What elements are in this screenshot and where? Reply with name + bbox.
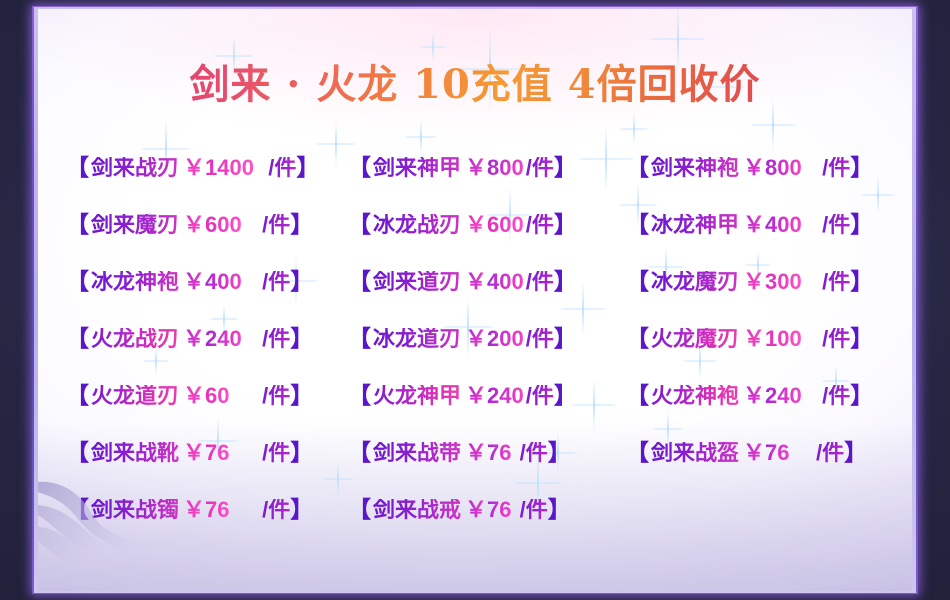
price-row: 【剑来魔刃￥600 /件】【冰龙战刃￥600/件】【冰龙神甲￥400 /件】 [38,196,912,253]
item-name: 火龙战刃 [91,328,179,350]
price-spacer [790,442,814,464]
unit-label: /件 [822,328,850,350]
item-name: 剑来战带 [373,442,461,464]
price-item[interactable]: 【火龙神甲￥240/件】 [348,384,626,407]
price-item[interactable]: 【剑来战盔￥76 /件】 [626,441,906,464]
promo-poster: 剑来 · 火龙 10充值 4倍回收价 【剑来战刃￥1400 /件】【剑来神甲￥8… [0,0,950,600]
unit-label: /件 [526,214,554,236]
item-name: 剑来神甲 [373,157,461,179]
currency-symbol: ￥ [183,157,205,179]
price-item[interactable]: 【剑来战带￥76 /件】 [348,441,626,464]
price-spacer [242,214,260,236]
item-price: 60 [205,385,229,407]
item-price: 76 [487,499,511,521]
currency-symbol: ￥ [183,499,205,521]
price-spacer [802,214,820,236]
item-price: 76 [205,499,229,521]
bracket-open: 【 [66,441,89,464]
unit-label: /件 [526,385,554,407]
item-name: 火龙神甲 [373,385,461,407]
price-item[interactable]: 【火龙道刃￥60 /件】 [66,384,348,407]
item-price: 800 [487,157,524,179]
item-name: 剑来魔刃 [91,214,179,236]
price-item[interactable]: 【剑来道刃￥400/件】 [348,270,626,293]
price-row: 【剑来战靴￥76 /件】【剑来战带￥76 /件】【剑来战盔￥76 /件】 [38,424,912,481]
price-spacer [512,442,518,464]
price-row: 【剑来战镯￥76 /件】【剑来战戒￥76 /件】 [38,481,912,538]
bracket-open: 【 [626,441,649,464]
price-item[interactable]: 【冰龙神甲￥400 /件】 [626,213,906,236]
item-price: 100 [765,328,802,350]
item-name: 剑来战刃 [91,157,179,179]
currency-symbol: ￥ [743,157,765,179]
unit-label: /件 [526,157,554,179]
item-price: 400 [205,271,242,293]
bracket-open: 【 [626,384,649,407]
item-name: 剑来战戒 [373,499,461,521]
item-name: 火龙神袍 [651,385,739,407]
bracket-close: 】 [554,384,577,407]
price-spacer [242,328,260,350]
item-name: 冰龙魔刃 [651,271,739,293]
unit-label: /件 [526,328,554,350]
bracket-close: 】 [548,498,571,521]
item-price: 1400 [205,157,254,179]
price-item[interactable]: 【剑来战刃￥1400 /件】 [66,156,348,179]
bracket-open: 【 [626,156,649,179]
price-item[interactable]: 【冰龙道刃￥200/件】 [348,327,626,350]
item-name: 剑来战镯 [91,499,179,521]
bracket-open: 【 [348,327,371,350]
unit-label: /件 [816,442,844,464]
item-name: 冰龙道刃 [373,328,461,350]
bracket-close: 】 [290,270,313,293]
currency-symbol: ￥ [465,499,487,521]
unit-label: /件 [526,271,554,293]
bracket-close: 】 [850,327,873,350]
bracket-open: 【 [348,270,371,293]
price-spacer [802,328,820,350]
bracket-close: 】 [554,270,577,293]
price-spacer [802,271,820,293]
bracket-open: 【 [66,213,89,236]
bracket-open: 【 [348,213,371,236]
unit-label: /件 [268,157,296,179]
price-item[interactable]: 【剑来战戒￥76 /件】 [348,498,626,521]
price-spacer [802,157,820,179]
unit-label: /件 [520,499,548,521]
price-item[interactable]: 【火龙战刃￥240 /件】 [66,327,348,350]
price-list: 【剑来战刃￥1400 /件】【剑来神甲￥800/件】【剑来神袍￥800 /件】【… [38,139,912,538]
bracket-open: 【 [626,213,649,236]
item-name: 剑来战靴 [91,442,179,464]
price-row: 【剑来战刃￥1400 /件】【剑来神甲￥800/件】【剑来神袍￥800 /件】 [38,139,912,196]
unit-label: /件 [822,385,850,407]
currency-symbol: ￥ [465,214,487,236]
bracket-close: 】 [850,213,873,236]
title-area: 剑来 · 火龙 10充值 4倍回收价 [38,63,912,107]
unit-label: /件 [262,442,290,464]
item-name: 冰龙神甲 [651,214,739,236]
item-name: 剑来战盔 [651,442,739,464]
bracket-close: 】 [296,156,319,179]
item-price: 800 [765,157,802,179]
price-spacer [254,157,266,179]
bracket-close: 】 [290,384,313,407]
item-price: 240 [487,385,524,407]
currency-symbol: ￥ [465,157,487,179]
item-price: 240 [205,328,242,350]
currency-symbol: ￥ [465,271,487,293]
price-row: 【冰龙神袍￥400 /件】【剑来道刃￥400/件】【冰龙魔刃￥300 /件】 [38,253,912,310]
unit-label: /件 [262,214,290,236]
bracket-open: 【 [66,270,89,293]
item-price: 600 [205,214,242,236]
currency-symbol: ￥ [183,214,205,236]
price-item[interactable]: 【剑来神甲￥800/件】 [348,156,626,179]
bracket-close: 】 [290,441,313,464]
currency-symbol: ￥ [743,385,765,407]
item-name: 剑来神袍 [651,157,739,179]
bracket-open: 【 [626,270,649,293]
price-spacer [230,385,261,407]
currency-symbol: ￥ [183,442,205,464]
bracket-open: 【 [626,327,649,350]
price-item[interactable]: 【火龙魔刃￥100 /件】 [626,327,906,350]
bracket-close: 】 [554,213,577,236]
currency-symbol: ￥ [183,271,205,293]
item-price: 600 [487,214,524,236]
bracket-open: 【 [66,156,89,179]
bracket-open: 【 [66,498,89,521]
price-item[interactable]: 【冰龙魔刃￥300 /件】 [626,270,906,293]
currency-symbol: ￥ [183,385,205,407]
price-spacer [512,499,518,521]
price-spacer [230,442,261,464]
price-spacer [802,385,820,407]
currency-symbol: ￥ [743,328,765,350]
unit-label: /件 [822,157,850,179]
item-price: 200 [487,328,524,350]
currency-symbol: ￥ [465,442,487,464]
item-price: 76 [205,442,229,464]
item-name: 冰龙神袍 [91,271,179,293]
currency-symbol: ￥ [743,442,765,464]
item-name: 火龙道刃 [91,385,179,407]
price-item[interactable]: 【剑来战靴￥76 /件】 [66,441,348,464]
price-row: 【火龙道刃￥60 /件】【火龙神甲￥240/件】【火龙神袍￥240 /件】 [38,367,912,424]
price-spacer [242,271,260,293]
unit-label: /件 [262,499,290,521]
bracket-close: 】 [554,156,577,179]
unit-label: /件 [262,328,290,350]
bracket-open: 【 [348,498,371,521]
item-price: 400 [765,214,802,236]
price-item[interactable]: 【冰龙神袍￥400 /件】 [66,270,348,293]
price-item[interactable]: 【冰龙战刃￥600/件】 [348,213,626,236]
bracket-close: 】 [290,213,313,236]
currency-symbol: ￥ [743,271,765,293]
bracket-close: 】 [548,441,571,464]
unit-label: /件 [520,442,548,464]
currency-symbol: ￥ [743,214,765,236]
item-price: 240 [765,385,802,407]
poster-title: 剑来 · 火龙 10充值 4倍回收价 [189,63,760,107]
unit-label: /件 [822,271,850,293]
currency-symbol: ￥ [183,328,205,350]
item-price: 76 [487,442,511,464]
unit-label: /件 [262,271,290,293]
price-row: 【火龙战刃￥240 /件】【冰龙道刃￥200/件】【火龙魔刃￥100 /件】 [38,310,912,367]
bracket-open: 【 [348,441,371,464]
currency-symbol: ￥ [465,385,487,407]
price-spacer [230,499,261,521]
price-item[interactable]: 【剑来魔刃￥600 /件】 [66,213,348,236]
bracket-close: 】 [554,327,577,350]
bracket-close: 】 [850,270,873,293]
unit-label: /件 [822,214,850,236]
price-item[interactable]: 【剑来战镯￥76 /件】 [66,498,348,521]
bracket-open: 【 [348,156,371,179]
item-price: 400 [487,271,524,293]
bracket-close: 】 [850,384,873,407]
bracket-close: 】 [844,441,867,464]
item-name: 冰龙战刃 [373,214,461,236]
price-item[interactable]: 【火龙神袍￥240 /件】 [626,384,906,407]
item-name: 剑来道刃 [373,271,461,293]
price-item[interactable]: 【剑来神袍￥800 /件】 [626,156,906,179]
unit-label: /件 [262,385,290,407]
bracket-open: 【 [66,327,89,350]
item-name: 火龙魔刃 [651,328,739,350]
bracket-open: 【 [66,384,89,407]
item-price: 76 [765,442,789,464]
poster-canvas: 剑来 · 火龙 10充值 4倍回收价 【剑来战刃￥1400 /件】【剑来神甲￥8… [38,9,912,591]
bracket-close: 】 [850,156,873,179]
bracket-close: 】 [290,327,313,350]
bracket-close: 】 [290,498,313,521]
item-price: 300 [765,271,802,293]
bracket-open: 【 [348,384,371,407]
currency-symbol: ￥ [465,328,487,350]
